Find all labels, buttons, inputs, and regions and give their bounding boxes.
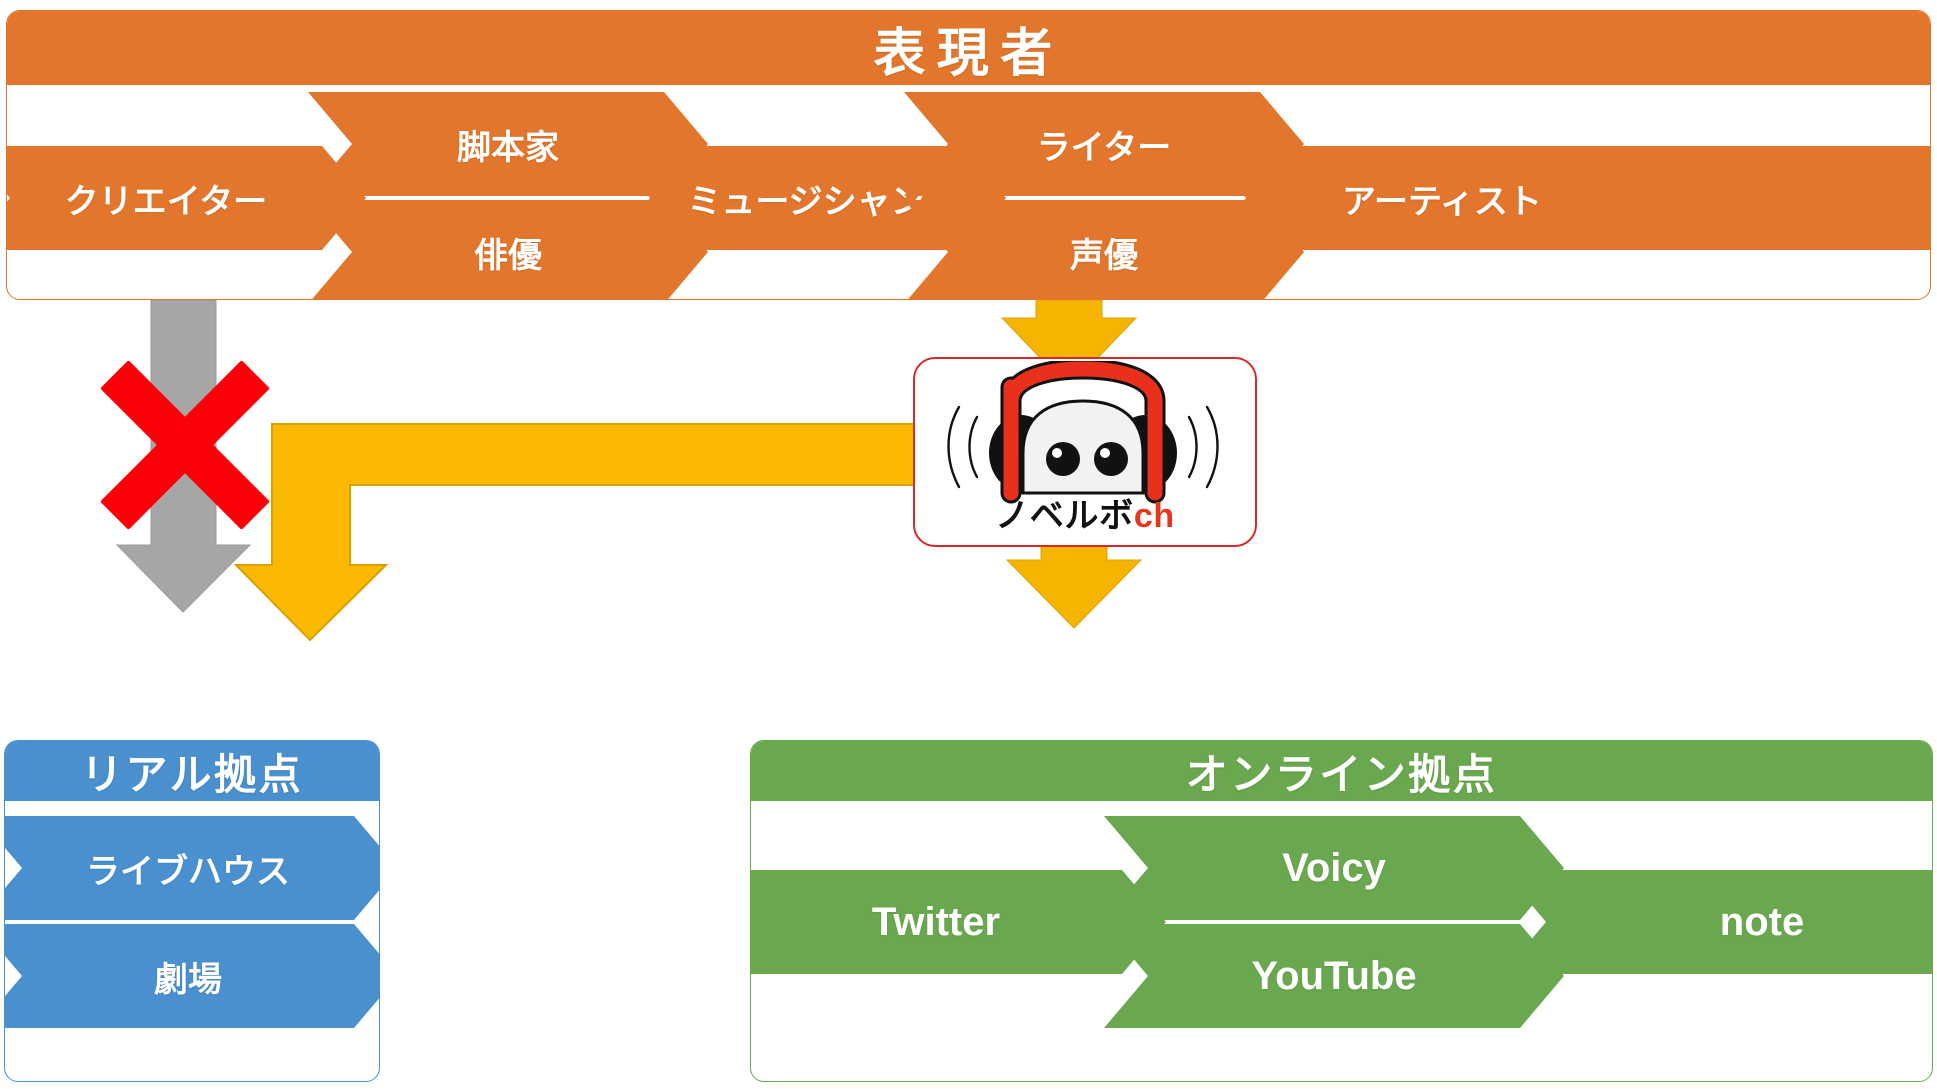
logo-wordmark: ノベルボch: [915, 488, 1255, 537]
chevron-live-house[interactable]: ライブハウス: [4, 816, 380, 920]
online-base-chevron-row: Twitter Voicy YouTube note: [750, 800, 1933, 1082]
performer-chevron-row: クリエイター 脚本家 俳優 ミュージシャン ライター 声優 アーティスト: [6, 84, 1931, 300]
real-base-group-title: リアル拠点: [5, 741, 379, 801]
chevron-youtube[interactable]: YouTube: [1104, 924, 1564, 1028]
chevron-note[interactable]: note: [1502, 870, 1933, 974]
diagram-canvas: 表現者 クリエイター 脚本家 俳優 ミュージシャン ライター 声優 アー: [0, 0, 1937, 1089]
chevron-voicy[interactable]: Voicy: [1104, 816, 1564, 920]
real-base-chevron-row: ライブハウス 劇場: [4, 800, 380, 1082]
performer-group-title: 表現者: [7, 11, 1930, 85]
online-base-group-title: オンライン拠点: [751, 741, 1932, 801]
yellow-elbow-arrow-to-real-icon: [236, 424, 923, 640]
chevron-twitter[interactable]: Twitter: [750, 870, 1166, 974]
logo-wordmark-red: ch: [1134, 497, 1175, 535]
red-x-mark-icon: [100, 360, 270, 530]
logo-wordmark-black: ノベルボ: [995, 497, 1134, 535]
chevron-creator[interactable]: クリエイター: [6, 146, 366, 250]
novelbo-channel-logo-card[interactable]: ノベルボch: [913, 357, 1257, 547]
yellow-down-arrow-to-online-icon: [1007, 540, 1141, 628]
chevron-artist[interactable]: アーティスト: [1202, 146, 1931, 250]
chevron-theater[interactable]: 劇場: [4, 924, 380, 1028]
